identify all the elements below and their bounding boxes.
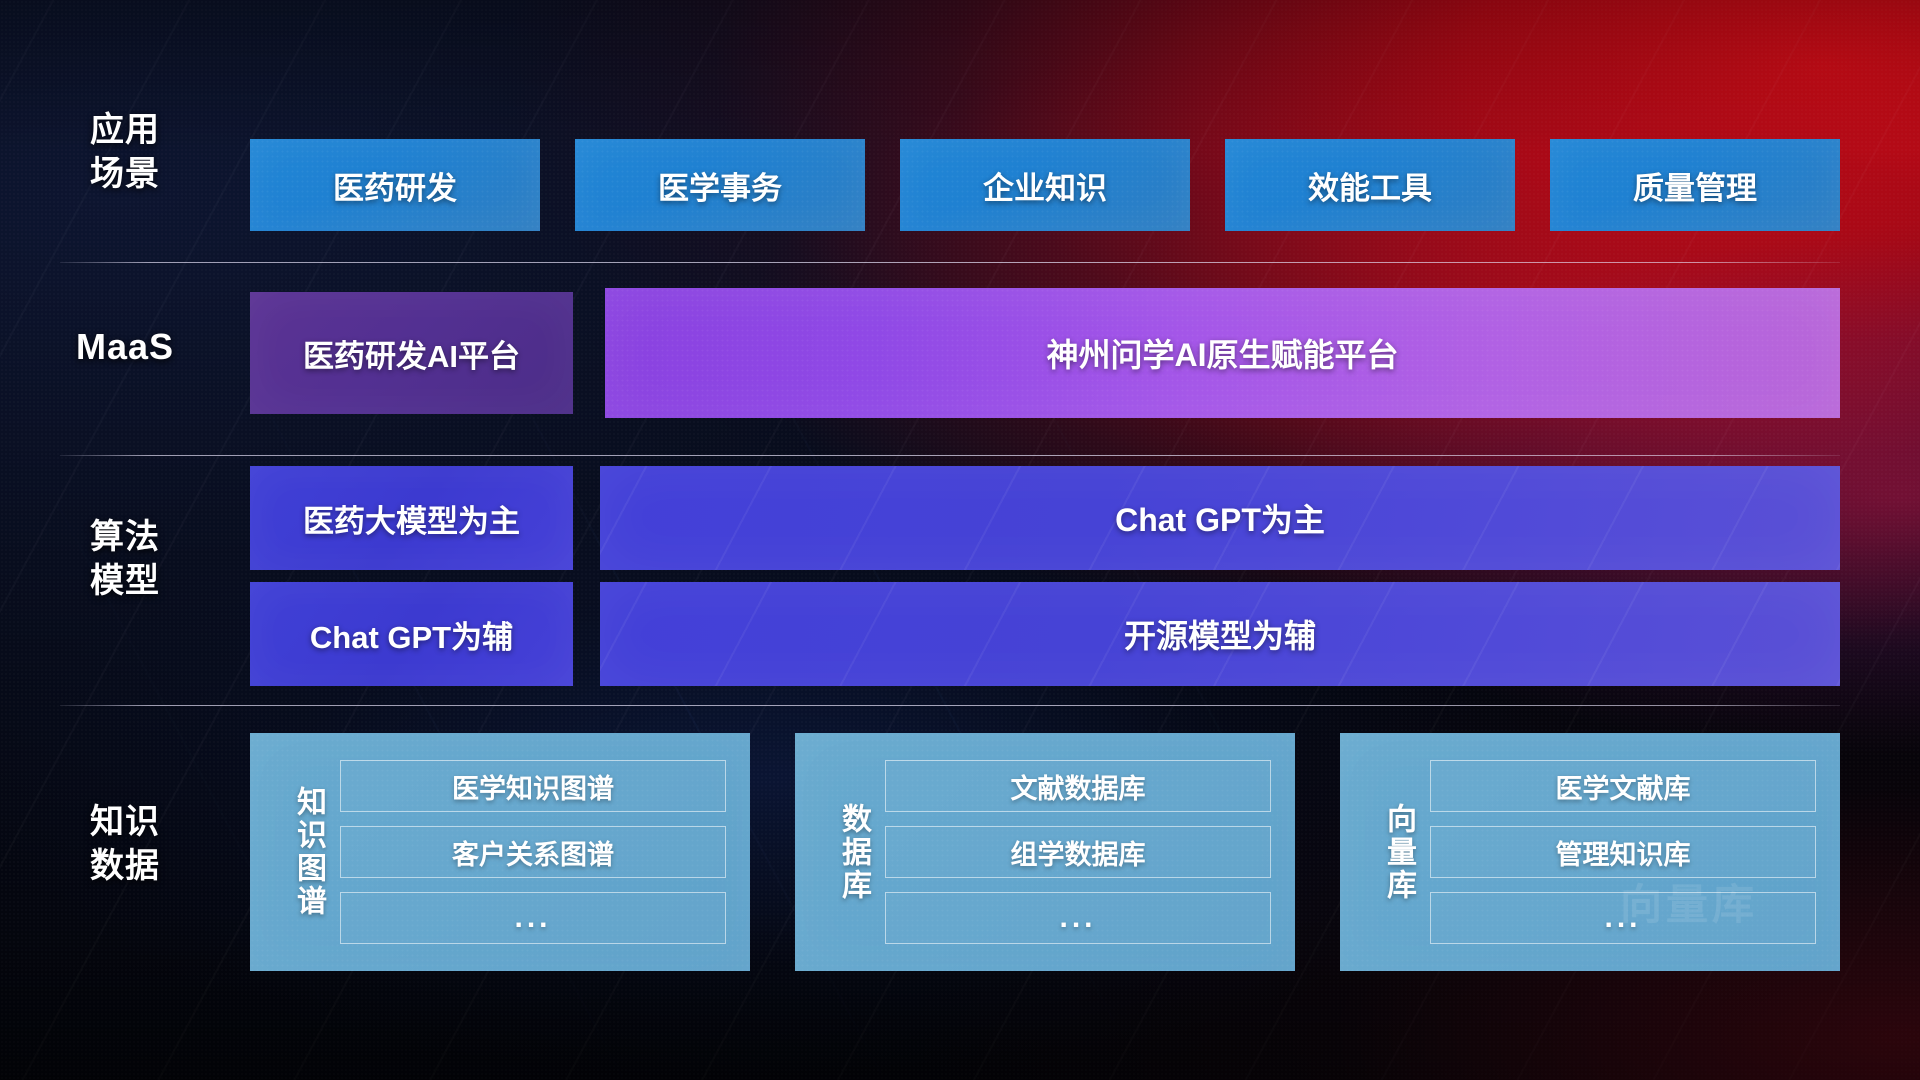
knowledge-panel-item-list: 医学知识图谱 客户关系图谱 ... — [326, 760, 726, 944]
knowledge-item-more[interactable]: ... — [885, 892, 1271, 944]
app-box-medicine-rnd[interactable]: 医药研发 — [250, 139, 540, 231]
divider-algorithm-knowledge — [60, 705, 1840, 706]
divider-application-maas — [60, 262, 1840, 263]
algo-box-chatgpt-primary[interactable]: Chat GPT为主 — [600, 466, 1840, 570]
algo-box-label: 医药大模型为主 — [303, 496, 520, 541]
knowledge-item[interactable]: 医学知识图谱 — [340, 760, 726, 812]
app-box-label: 质量管理 — [1633, 163, 1757, 208]
row-label-algorithm: 算法 模型 — [60, 515, 190, 603]
row-label-maas: MaaS — [60, 325, 190, 369]
algo-box-chatgpt-secondary[interactable]: Chat GPT为辅 — [250, 582, 573, 686]
knowledge-panel-item-list: 文献数据库 组学数据库 ... — [871, 760, 1271, 944]
row-label-application: 应用 场景 — [60, 108, 190, 196]
architecture-diagram-stage: 应用 场景 医药研发 医学事务 企业知识 效能工具 质量管理 MaaS 医药研发… — [0, 0, 1920, 1080]
knowledge-item-more[interactable]: ... — [340, 892, 726, 944]
diagram-content: 应用 场景 医药研发 医学事务 企业知识 效能工具 质量管理 MaaS 医药研发… — [0, 0, 1920, 1080]
divider-maas-algorithm — [60, 455, 1840, 456]
knowledge-panel-database[interactable]: 数据库 文献数据库 组学数据库 ... — [795, 733, 1295, 971]
knowledge-item[interactable]: 管理知识库 — [1430, 826, 1816, 878]
knowledge-panel-vector-database[interactable]: 向量库 向量库 医学文献库 管理知识库 ... — [1340, 733, 1840, 971]
app-box-enterprise-knowledge[interactable]: 企业知识 — [900, 139, 1190, 231]
knowledge-panel-knowledge-graph[interactable]: 知识图谱 医学知识图谱 客户关系图谱 ... — [250, 733, 750, 971]
knowledge-item[interactable]: 文献数据库 — [885, 760, 1271, 812]
algo-box-label: 开源模型为辅 — [1124, 611, 1316, 657]
maas-box-medicine-ai-platform[interactable]: 医药研发AI平台 — [250, 292, 573, 414]
algo-box-opensource-secondary[interactable]: 开源模型为辅 — [600, 582, 1840, 686]
app-box-quality-management[interactable]: 质量管理 — [1550, 139, 1840, 231]
knowledge-panel-title: 知识图谱 — [270, 749, 326, 955]
knowledge-item[interactable]: 组学数据库 — [885, 826, 1271, 878]
maas-box-shenzhou-wenxue-platform[interactable]: 神州问学AI原生赋能平台 — [605, 288, 1840, 418]
knowledge-panel-title: 向量库 — [1360, 749, 1416, 955]
algo-box-label: Chat GPT为主 — [1115, 495, 1325, 541]
app-box-label: 效能工具 — [1308, 163, 1432, 208]
knowledge-item-more[interactable]: ... — [1430, 892, 1816, 944]
maas-box-label: 神州问学AI原生赋能平台 — [1046, 330, 1398, 376]
algo-box-label: Chat GPT为辅 — [310, 612, 513, 657]
app-box-label: 医药研发 — [333, 163, 457, 208]
app-box-label: 企业知识 — [983, 163, 1107, 208]
knowledge-item[interactable]: 医学文献库 — [1430, 760, 1816, 812]
app-box-efficiency-tools[interactable]: 效能工具 — [1225, 139, 1515, 231]
algo-box-medicine-llm-primary[interactable]: 医药大模型为主 — [250, 466, 573, 570]
knowledge-panel-title: 数据库 — [815, 749, 871, 955]
knowledge-panel-item-list: 医学文献库 管理知识库 ... — [1416, 760, 1816, 944]
knowledge-item[interactable]: 客户关系图谱 — [340, 826, 726, 878]
app-box-medical-affairs[interactable]: 医学事务 — [575, 139, 865, 231]
app-box-label: 医学事务 — [658, 163, 782, 208]
row-label-knowledge: 知识 数据 — [60, 800, 190, 888]
maas-box-label: 医药研发AI平台 — [303, 331, 520, 376]
